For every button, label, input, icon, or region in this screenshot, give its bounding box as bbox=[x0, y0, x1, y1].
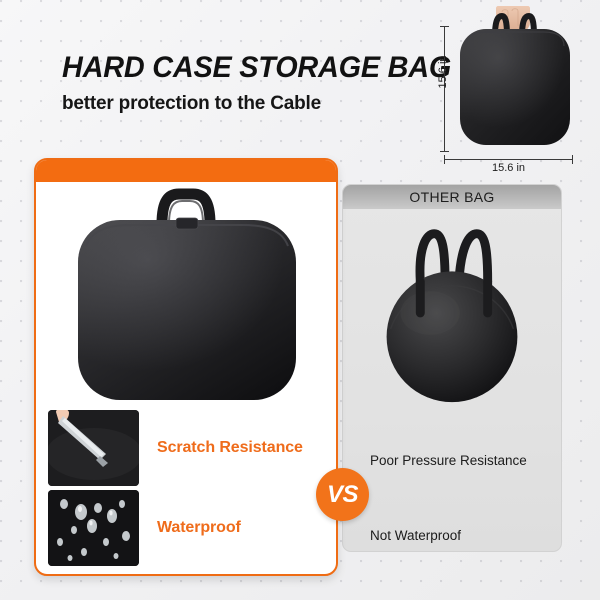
heading-block: HARD CASE STORAGE BAG better protection … bbox=[62, 52, 432, 115]
vs-badge: VS bbox=[316, 468, 369, 521]
hard-case-panel: Scratch Resistance bbox=[34, 158, 338, 576]
dimension-callout: 15.6 in 15.6 in bbox=[432, 4, 592, 174]
dimension-line-horizontal bbox=[444, 159, 573, 160]
round-bag-photo bbox=[343, 209, 561, 409]
feature-thumbnail-scratch bbox=[48, 410, 139, 486]
other-bag-photo-area bbox=[343, 209, 561, 409]
feature-label: Scratch Resistance bbox=[157, 439, 303, 457]
vs-badge-label: VS bbox=[327, 481, 358, 509]
hero-product-photo bbox=[452, 6, 577, 156]
feature-row: Scratch Resistance bbox=[48, 410, 326, 486]
con-item-2: Not Waterproof bbox=[370, 528, 461, 543]
main-product-photo-area bbox=[36, 182, 336, 410]
product-infographic: HARD CASE STORAGE BAG better protection … bbox=[0, 0, 600, 600]
water-droplets-icon bbox=[48, 490, 139, 566]
panel-accent-bar bbox=[36, 160, 336, 182]
page-title: HARD CASE STORAGE BAG bbox=[62, 52, 417, 83]
dimension-height-label: 15.6 in bbox=[437, 45, 449, 99]
other-bag-panel: OTHER BAG Poor Pressure Resistance bbox=[342, 184, 562, 552]
feature-list: Scratch Resistance bbox=[48, 410, 326, 570]
feature-thumbnail-waterproof bbox=[48, 490, 139, 566]
blade-scratch-icon bbox=[48, 410, 139, 486]
feature-row: Waterproof bbox=[48, 490, 326, 566]
feature-label: Waterproof bbox=[157, 519, 241, 537]
main-product-photo bbox=[36, 182, 336, 410]
page-subtitle: better protection to the Cable bbox=[62, 93, 432, 115]
other-bag-header-label: OTHER BAG bbox=[409, 189, 494, 205]
con-item-1: Poor Pressure Resistance bbox=[370, 453, 527, 468]
dimension-width-label: 15.6 in bbox=[444, 162, 573, 174]
other-bag-header: OTHER BAG bbox=[343, 185, 561, 209]
